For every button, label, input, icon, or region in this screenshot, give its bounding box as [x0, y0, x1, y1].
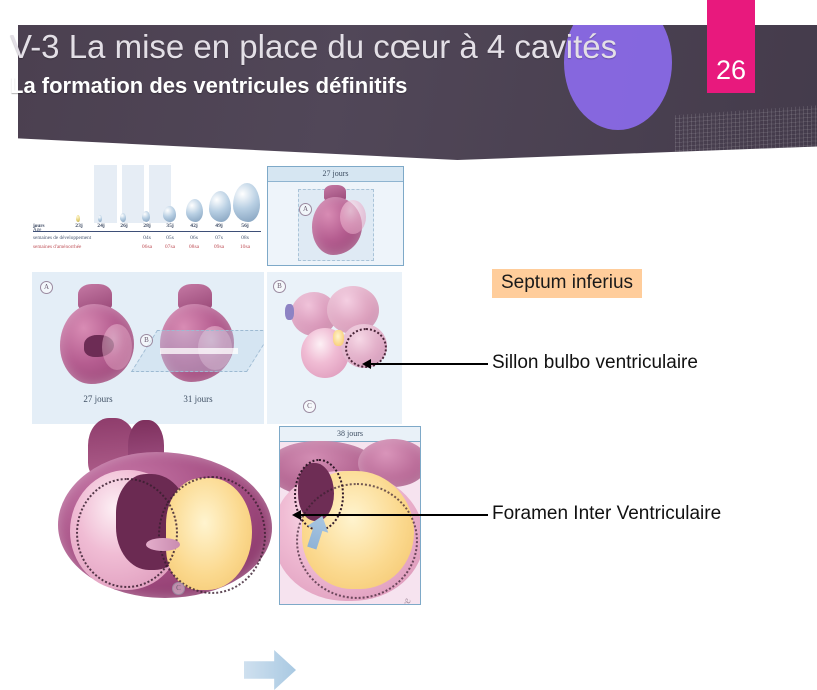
timeline-cell: 35j [166, 223, 173, 229]
embryo-silhouette-23j [76, 215, 80, 222]
embryo-silhouette-56j [233, 183, 260, 222]
zoom-indicator-arrow [244, 650, 296, 690]
page-subtitle: La formation des ventricules définitifs [10, 73, 407, 99]
timeline-cell: 24j [97, 223, 104, 229]
vessel-stub [285, 304, 294, 320]
embryo-silhouette-28j [142, 211, 150, 222]
embryology-figure: jours 23j 24j 26j 28j 35j 42j 49j 56j Âg… [14, 160, 420, 607]
embryo-development-timeline: jours 23j 24j 26j 28j 35j 42j 49j 56j Âg… [32, 165, 264, 261]
timeline-cell: 08sa [189, 244, 199, 250]
panel-marker-c: C [303, 400, 316, 413]
timeline-row-label: semaines d'aménorrhée [33, 244, 81, 250]
timeline-row-label: semaines de développement [33, 235, 91, 241]
timeline-cell: 07s [215, 235, 223, 241]
timeline-axis-rule [33, 231, 261, 232]
slide-number-value: 26 [716, 57, 746, 93]
timeline-cell: 04s [143, 235, 151, 241]
illustrator-signature: P. Delaere [391, 597, 414, 605]
trabeculae-dotted-right [158, 476, 266, 594]
annotation-foramen-inter-ventriculaire: Foramen Inter Ventriculaire [492, 503, 721, 525]
embryo-silhouette-35j [163, 206, 176, 222]
panel-caption: 27 jours [268, 167, 403, 182]
timeline-cell: 26j [120, 223, 127, 229]
timeline-band [94, 165, 117, 223]
panel-marker-a: A [299, 203, 312, 216]
embryo-silhouette-42j [186, 199, 203, 222]
timeline-cell: 23j [75, 223, 82, 229]
panel-marker-a: A [40, 281, 53, 294]
timeline-cell: 42j [190, 223, 197, 229]
panel-frontal-sections-27-31-jours: A 27 jours B 31 jours [32, 272, 264, 424]
annotation-septum-inferius: Septum inferius [492, 269, 642, 298]
leader-line-foramen [300, 514, 488, 516]
panel-caption-31-jours: 31 jours [183, 394, 212, 404]
timeline-cell: 06sa [142, 244, 152, 250]
leader-arrowhead-foramen [292, 510, 301, 520]
timeline-cell: 08s [241, 235, 249, 241]
panel-27-jours-whole-heart: 27 jours A [267, 166, 404, 266]
timeline-cell: 07sa [165, 244, 175, 250]
timeline-cell: 28j [143, 223, 150, 229]
slide-number-badge: 26 [707, 0, 755, 93]
heart-highlight-art [340, 200, 366, 234]
decorative-purple-circle-bottom [608, 153, 738, 160]
leader-line-sillon [370, 363, 488, 365]
panel-bulbo-ventricular-view: B C [267, 272, 402, 424]
panel-marker-b: B [140, 334, 153, 347]
embryo-silhouette-26j [120, 213, 126, 222]
panel-marker-c: C [172, 582, 185, 595]
decorative-dot-texture [675, 105, 817, 160]
leader-arrowhead-sillon [362, 359, 371, 369]
heart-wall-highlight-27j [102, 324, 132, 370]
timeline-cell: 49j [215, 223, 222, 229]
septum-inferius-marker [333, 330, 344, 346]
timeline-cell: 56j [241, 223, 248, 229]
timeline-cell: 05s [166, 235, 174, 241]
valve-structure [146, 538, 180, 551]
annotation-sillon-bulbo-ventriculaire: Sillon bulbo ventriculaire [492, 352, 698, 374]
embryo-silhouette-49j [209, 191, 231, 222]
timeline-cell: 10sa [240, 244, 250, 250]
embryo-silhouette-24j [98, 215, 102, 222]
panel-caption-27-jours: 27 jours [83, 394, 112, 404]
timeline-cell: 06s [190, 235, 198, 241]
panel-ventricle-section-large: C [54, 418, 284, 603]
page-title: V-3 La mise en place du cœur à 4 cavités [10, 28, 617, 66]
timeline-cell: 09sa [214, 244, 224, 250]
section-cut-line [160, 348, 238, 354]
panel-marker-b: B [273, 280, 286, 293]
